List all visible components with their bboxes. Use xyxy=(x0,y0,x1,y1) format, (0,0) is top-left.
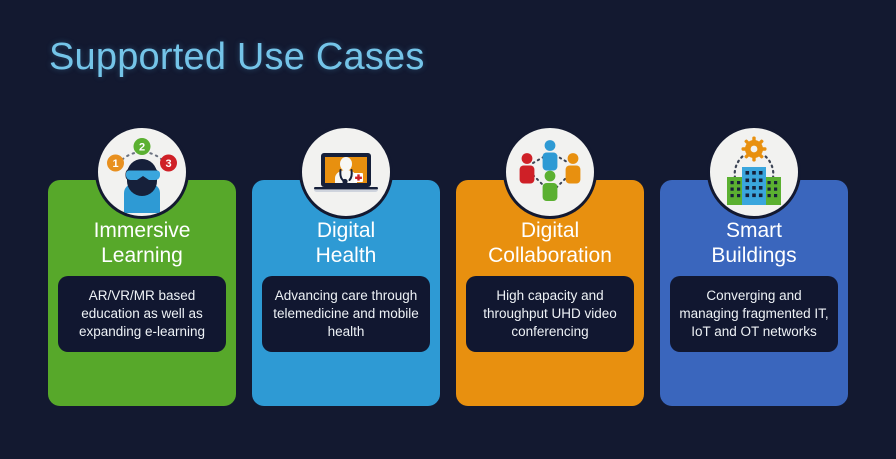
card-title-line2: Learning xyxy=(101,244,183,267)
card-title-line2: Collaboration xyxy=(488,244,612,267)
vr-headset-person-icon: 2 1 3 xyxy=(95,125,189,219)
smart-building-gear-icon xyxy=(707,125,801,219)
page-title: Supported Use Cases xyxy=(49,36,425,79)
card-description: Advancing care through telemedicine and … xyxy=(262,276,430,352)
card-title-line1: Immersive xyxy=(94,219,191,242)
card-title-line1: Digital xyxy=(521,219,579,242)
slide-root: Supported Use Cases 2 xyxy=(0,0,896,459)
card-title: Immersive Learning xyxy=(88,218,197,268)
use-case-card-digital-health[interactable]: Digital Health Advancing care through te… xyxy=(252,180,440,406)
card-description: High capacity and throughput UHD video c… xyxy=(466,276,634,352)
svg-text:1: 1 xyxy=(112,158,118,170)
laptop-telemedicine-icon xyxy=(299,125,393,219)
svg-text:3: 3 xyxy=(165,158,171,170)
use-case-card-smart-buildings[interactable]: Smart Buildings Converging and managing … xyxy=(660,180,848,406)
use-case-card-immersive-learning[interactable]: 2 1 3 Immersive Learning AR/VR/MR based … xyxy=(48,180,236,406)
use-case-card-list: 2 1 3 Immersive Learning AR/VR/MR based … xyxy=(48,180,848,406)
use-case-card-digital-collaboration[interactable]: Digital Collaboration High capacity and … xyxy=(456,180,644,406)
card-description: Converging and managing fragmented IT, I… xyxy=(670,276,838,352)
svg-text:2: 2 xyxy=(139,142,145,154)
card-title-line1: Smart xyxy=(726,219,782,242)
card-title: Digital Collaboration xyxy=(482,218,618,268)
card-title: Smart Buildings xyxy=(705,218,802,268)
card-title: Digital Health xyxy=(310,218,383,268)
card-title-line2: Buildings xyxy=(711,244,796,267)
card-description: AR/VR/MR based education as well as expa… xyxy=(58,276,226,352)
card-title-line1: Digital xyxy=(317,219,375,242)
people-network-icon xyxy=(503,125,597,219)
card-title-line2: Health xyxy=(316,244,377,267)
